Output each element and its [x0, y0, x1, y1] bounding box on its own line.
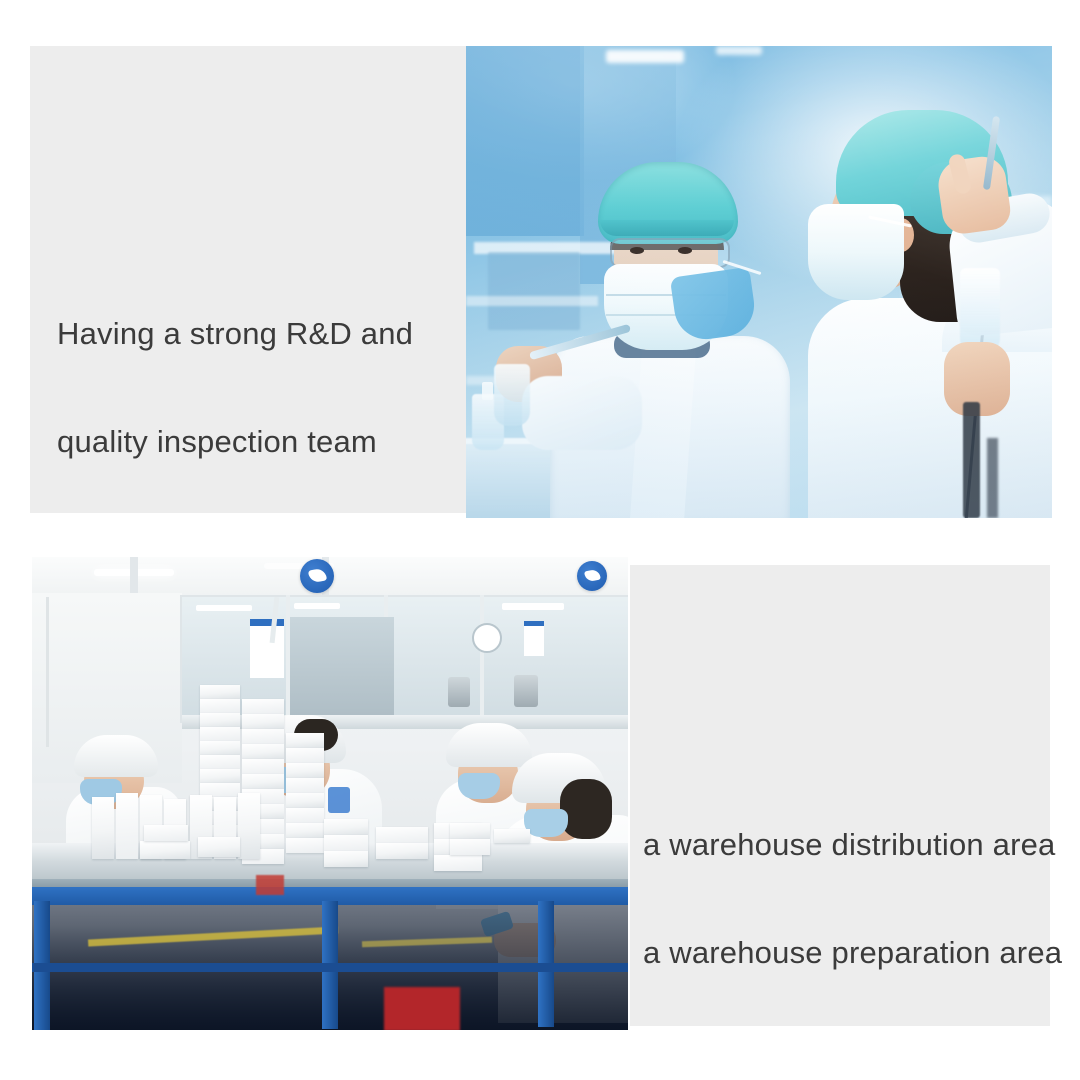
- carton-box: [92, 797, 114, 859]
- worker-right-front-face-mask: [524, 809, 568, 837]
- carton-box: [200, 699, 240, 713]
- carton-box: [200, 685, 240, 699]
- carton-box: [242, 774, 284, 789]
- carton-box: [200, 755, 240, 769]
- carton-box: [450, 823, 490, 839]
- floor-red-object: [384, 987, 460, 1030]
- carton-box: [242, 699, 284, 714]
- lab-inspection-photo: [466, 46, 1052, 518]
- carton-box: [200, 713, 240, 727]
- warehouse-packing-photo: [32, 557, 628, 1030]
- carton-box: [286, 808, 324, 823]
- carton-box: [242, 759, 284, 774]
- technician-front-eye-right: [678, 247, 692, 254]
- carton-box: [242, 744, 284, 759]
- carton-box: [494, 829, 530, 843]
- page-canvas: Having a strong R&D and quality inspecti…: [0, 0, 1080, 1080]
- worker-center-badge: [328, 787, 350, 813]
- rd-caption-text: Having a strong R&D and quality inspecti…: [57, 244, 413, 532]
- rd-caption-line-1: Having a strong R&D and: [57, 316, 413, 352]
- lab-dark-post: [963, 402, 980, 518]
- cleanroom-steel-pot-1: [448, 677, 470, 707]
- cleanroom-wall-clock-icon: [472, 623, 502, 653]
- cleanroom-inner-light-1-icon: [196, 605, 252, 611]
- cleanroom-inner-door: [290, 617, 394, 719]
- lab-coat-sleeve: [522, 376, 642, 450]
- carton-box: [144, 825, 188, 841]
- carton-box: [324, 851, 368, 867]
- carton-box: [286, 748, 324, 763]
- technician-profile-raised-hand: [935, 154, 1013, 237]
- technician-profile-face-mask: [808, 204, 904, 300]
- technician-front-hairnet-band: [600, 220, 734, 236]
- carton-box: [286, 823, 324, 838]
- carton-box: [238, 793, 260, 859]
- lab-technician-profile: [792, 92, 1052, 518]
- worker-left-hairnet: [74, 735, 158, 777]
- carton-box: [242, 729, 284, 744]
- carton-box: [140, 841, 190, 859]
- carton-box: [200, 727, 240, 741]
- carton-box: [286, 793, 324, 808]
- carton-box: [200, 741, 240, 755]
- cleanroom-wall-seam: [46, 597, 49, 747]
- warehouse-caption-line-2: a warehouse preparation area: [643, 935, 1062, 971]
- carton-box: [450, 839, 490, 855]
- cleanroom-signage-disc-2-icon: [577, 561, 607, 591]
- rd-caption-line-2: quality inspection team: [57, 424, 413, 460]
- lab-dark-post-secondary: [987, 438, 998, 518]
- worker-right-back-face-mask: [458, 773, 500, 799]
- carton-box: [286, 778, 324, 793]
- carton-box: [200, 769, 240, 783]
- lab-ceiling-light-icon: [606, 50, 684, 63]
- carton-box: [324, 819, 368, 835]
- carton-box: [434, 855, 482, 871]
- cleanroom-window-mullion-3: [480, 595, 484, 721]
- carton-box: [286, 838, 324, 853]
- cleanroom-inner-light-2-icon: [294, 603, 340, 609]
- worker-right-front-hair: [560, 779, 612, 839]
- lab-ceiling-light-secondary-icon: [716, 46, 762, 55]
- cleanroom-notice-board-2: [524, 621, 544, 656]
- carton-box: [286, 733, 324, 748]
- carton-box: [376, 827, 428, 843]
- carton-box: [324, 835, 368, 851]
- packing-table-lower-rail: [32, 963, 628, 972]
- carton-box: [286, 763, 324, 778]
- lab-sample-vial-left: [494, 364, 530, 426]
- warehouse-caption-text: a warehouse distribution area a warehous…: [643, 755, 1062, 1043]
- cleanroom-inner-light-3-icon: [502, 603, 564, 610]
- cleanroom-steel-pot-2: [514, 675, 538, 707]
- cleanroom-signage-disc-1-icon: [300, 559, 334, 593]
- warehouse-caption-line-1: a warehouse distribution area: [643, 827, 1062, 863]
- carton-box: [242, 714, 284, 729]
- carton-box: [116, 793, 138, 859]
- carton-box: [198, 837, 240, 857]
- technician-front-eye-left: [630, 247, 644, 254]
- table-red-object: [256, 875, 284, 895]
- carton-box: [376, 843, 428, 859]
- cleanroom-notice-board-1: [250, 619, 284, 678]
